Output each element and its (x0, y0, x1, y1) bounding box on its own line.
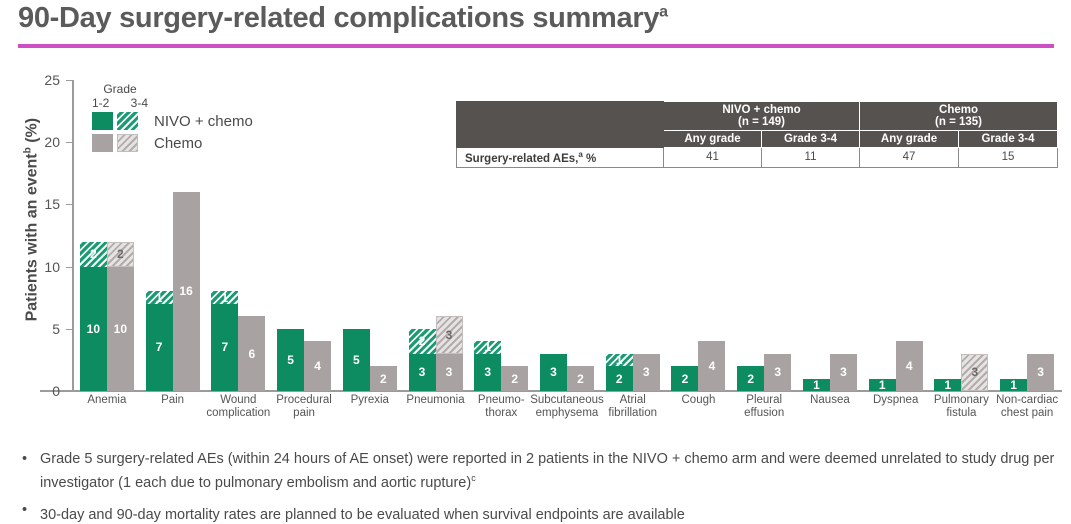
bar-segment-chemo-grade-1-2: 3 (633, 354, 660, 391)
bar-chemo[interactable]: 2 (567, 366, 594, 391)
x-axis-label-line: effusion (744, 407, 784, 419)
bar-chemo[interactable]: 16 (173, 192, 200, 391)
legend-grade-3-4-label: 3-4 (131, 96, 148, 110)
legend-grade-header: Grade (92, 82, 148, 96)
bar-segment-chemo-grade-1-2: 2 (370, 366, 397, 391)
footnote-item: • 30-day and 90-day mortality rates are … (14, 501, 1059, 524)
table-cell-nivo-grade-3-4: 11 (762, 148, 860, 168)
table-subheader-nivo-grade-3-4: Grade 3-4 (762, 131, 860, 148)
y-axis-tick-label: 20 (28, 134, 60, 150)
bar-segment-nivo-grade-1-2: 5 (277, 329, 304, 391)
bar-segment-chemo-grade-1-2: 6 (238, 316, 265, 391)
bar-segment-nivo-grade-3-4: 1 (606, 354, 633, 366)
bar-nivo-chemo[interactable]: 12 (606, 354, 633, 391)
bar-segment-nivo-grade-3-4: 1 (146, 291, 173, 303)
x-axis-label-line: emphysema (536, 407, 599, 419)
bar-segment-chemo-grade-1-2: 3 (830, 354, 857, 391)
x-axis-label-line: Pleural (746, 394, 782, 406)
bar-segment-nivo-grade-1-2: 7 (146, 304, 173, 391)
bar-nivo-chemo[interactable]: 1 (803, 379, 830, 391)
title-underline-rule (18, 44, 1054, 48)
bar-chemo[interactable]: 3 (633, 354, 660, 391)
bar-nivo-chemo[interactable]: 3 (540, 354, 567, 391)
x-axis-label-line: Procedural (276, 394, 332, 406)
y-axis-tick (66, 267, 74, 268)
bar-chemo[interactable]: 3 (961, 354, 988, 391)
table-subheader-nivo-any-grade: Any grade (664, 131, 762, 148)
footnote-superscript: c (471, 473, 476, 483)
table-header-nivo-chemo-n: (n = 149) (738, 116, 785, 128)
bar-nivo-chemo[interactable]: 5 (277, 329, 304, 391)
footnote-item: • Grade 5 surgery-related AEs (within 24… (14, 450, 1059, 493)
x-axis-labels: AnemiaPainWoundcomplicationProceduralpai… (74, 394, 1060, 446)
bullet-icon: • (22, 450, 27, 469)
bar-segment-chemo-grade-3-4: 2 (107, 242, 134, 267)
x-axis-label-line: chest pain (1001, 407, 1053, 419)
bar-segment-nivo-grade-1-2: 2 (606, 366, 633, 391)
table-subheader-chemo-any-grade: Any grade (860, 131, 959, 148)
bar-segment-nivo-grade-1-2: 2 (671, 366, 698, 391)
x-axis-label-line: Pneumonia (406, 394, 464, 406)
page-title: 90-Day surgery-related complications sum… (18, 2, 668, 35)
y-axis-tick-label: 25 (28, 72, 60, 88)
footnote-text: Grade 5 surgery-related AEs (within 24 h… (40, 451, 1054, 491)
x-axis-label-line: pain (293, 407, 315, 419)
x-axis-label-line: Pulmonary (934, 394, 989, 406)
bar-segment-nivo-grade-3-4: 1 (474, 341, 501, 353)
legend-label-chemo: Chemo (154, 135, 202, 152)
bar-segment-nivo-grade-3-4: 2 (409, 329, 436, 354)
slide: 90-Day surgery-related complications sum… (0, 0, 1071, 524)
bar-segment-chemo-grade-3-4: 3 (961, 354, 988, 391)
legend-grade-1-2-label: 1-2 (92, 96, 109, 110)
bar-nivo-chemo[interactable]: 1 (869, 379, 896, 391)
legend-grade-subheaders: 1-2 3-4 (92, 96, 148, 110)
bar-segment-nivo-grade-1-2: 3 (409, 354, 436, 391)
bar-nivo-chemo[interactable]: 2 (737, 366, 764, 391)
bar-chemo[interactable]: 4 (304, 341, 331, 391)
table-cell-chemo-any-grade: 47 (860, 148, 959, 168)
table-header-row-arms: NIVO + chemo (n = 149) Chemo (n = 135) (457, 102, 1058, 131)
bar-segment-nivo-grade-1-2: 10 (80, 267, 107, 391)
x-axis-label-line: Cough (682, 394, 716, 406)
bar-chemo[interactable]: 33 (436, 316, 463, 391)
y-axis-tick (66, 204, 74, 205)
bar-chemo[interactable]: 4 (698, 341, 725, 391)
table-row-label-text: Surgery-related AEs, (465, 153, 578, 165)
x-axis-label: Non-cardiacchest pain (988, 394, 1066, 420)
bar-segment-chemo-grade-1-2: 4 (698, 341, 725, 391)
x-axis-label-line: Atrial (620, 394, 646, 406)
x-axis-label-line: thorax (485, 407, 517, 419)
bar-segment-chemo-grade-1-2: 3 (436, 354, 463, 391)
bar-chemo[interactable]: 210 (107, 242, 134, 391)
y-axis-tick (66, 80, 74, 81)
legend-item-nivo-chemo: NIVO + chemo (92, 112, 253, 130)
page-title-superscript: a (659, 3, 668, 20)
bar-chemo[interactable]: 4 (896, 341, 923, 391)
x-axis-label-line: complication (206, 407, 270, 419)
bar-nivo-chemo[interactable]: 210 (80, 242, 107, 391)
bar-segment-chemo-grade-1-2: 10 (107, 267, 134, 391)
bar-segment-nivo-grade-1-2: 1 (934, 379, 961, 391)
bar-chemo[interactable]: 3 (830, 354, 857, 391)
bar-segment-nivo-grade-1-2: 7 (211, 304, 238, 391)
x-axis-label-line: Non-cardiac (996, 394, 1058, 406)
page-title-text: 90-Day surgery-related complications sum… (18, 2, 659, 34)
bar-segment-nivo-grade-1-2: 2 (737, 366, 764, 391)
x-axis-label-line: Pain (161, 394, 184, 406)
bar-chart: Patients with an eventb (%) 0510152025 2… (0, 62, 1071, 448)
bar-segment-chemo-grade-1-2: 3 (764, 354, 791, 391)
table-header-nivo-chemo-name: NIVO + chemo (722, 104, 800, 116)
bar-segment-chemo-grade-1-2: 16 (173, 192, 200, 391)
summary-table: NIVO + chemo (n = 149) Chemo (n = 135) A… (456, 101, 1057, 168)
x-axis-label-line: Pneumo- (478, 394, 525, 406)
footnote-list: • Grade 5 surgery-related AEs (within 24… (14, 450, 1059, 524)
legend-swatch-chemo-grade-3-4 (117, 134, 138, 152)
bar-nivo-chemo[interactable]: 13 (474, 341, 501, 391)
table-subheader-chemo-grade-3-4: Grade 3-4 (959, 131, 1058, 148)
x-axis-label-line: fistula (946, 407, 976, 419)
bar-segment-chemo-grade-1-2: 2 (501, 366, 528, 391)
y-axis-tick-label: 0 (28, 383, 60, 399)
y-axis-title-text: Patients with an event (24, 153, 41, 321)
y-axis-tick (66, 329, 74, 330)
bar-segment-nivo-grade-1-2: 1 (1000, 379, 1027, 391)
x-axis-label-line: Wound (220, 394, 256, 406)
legend-swatch-chemo-grade-1-2 (92, 134, 113, 152)
y-axis-tick-label: 5 (28, 321, 60, 337)
y-axis-tick (66, 142, 74, 143)
y-axis-tick-label: 15 (28, 196, 60, 212)
x-axis-label-line: Nausea (810, 394, 850, 406)
bar-segment-chemo-grade-3-4: 3 (436, 316, 463, 353)
table-header-chemo-n: (n = 135) (935, 116, 982, 128)
bar-segment-chemo-grade-1-2: 4 (304, 341, 331, 391)
bar-nivo-chemo[interactable]: 5 (343, 329, 370, 391)
bullet-icon: • (22, 501, 27, 520)
legend-label-nivo-chemo: NIVO + chemo (154, 113, 253, 130)
bar-nivo-chemo[interactable]: 1 (934, 379, 961, 391)
bar-nivo-chemo[interactable]: 17 (146, 291, 173, 391)
table-row-label: Surgery-related AEs,a % (457, 148, 664, 168)
footnote-text: 30-day and 90-day mortality rates are pl… (40, 507, 685, 523)
summary-table-grid: NIVO + chemo (n = 149) Chemo (n = 135) A… (456, 101, 1058, 168)
bar-segment-nivo-grade-1-2: 5 (343, 329, 370, 391)
bar-group: 52 (337, 80, 403, 391)
table-header-chemo: Chemo (n = 135) (860, 102, 1058, 131)
bar-chemo[interactable]: 2 (370, 366, 397, 391)
bar-segment-nivo-grade-1-2: 3 (540, 354, 567, 391)
bar-segment-nivo-grade-3-4: 2 (80, 242, 107, 267)
bar-nivo-chemo[interactable]: 23 (409, 329, 436, 391)
legend-swatch-nivo-grade-1-2 (92, 112, 113, 130)
x-axis-label-line: Dyspnea (873, 394, 918, 406)
bar-segment-chemo-grade-1-2: 2 (567, 366, 594, 391)
bar-segment-chemo-grade-1-2: 3 (1027, 354, 1054, 391)
bar-chemo[interactable]: 2 (501, 366, 528, 391)
x-axis-label-line: Anemia (87, 394, 126, 406)
x-axis-label-line: Subcutaneous (530, 394, 604, 406)
legend-item-chemo: Chemo (92, 134, 202, 152)
bar-chemo[interactable]: 6 (238, 316, 265, 391)
x-axis-label-line: fibrillation (608, 407, 657, 419)
bar-nivo-chemo[interactable]: 1 (1000, 379, 1027, 391)
bar-segment-chemo-grade-1-2: 4 (896, 341, 923, 391)
table-row: Surgery-related AEs,a % 41 11 47 15 (457, 148, 1058, 168)
y-axis-tick-label: 10 (28, 259, 60, 275)
table-row-label-suffix: % (583, 153, 596, 165)
bar-segment-nivo-grade-1-2: 1 (869, 379, 896, 391)
bar-chemo[interactable]: 3 (764, 354, 791, 391)
table-corner-cell (457, 102, 664, 148)
legend-swatch-nivo-grade-3-4 (117, 112, 138, 130)
x-axis-label-line: Pyrexia (351, 394, 389, 406)
bar-segment-nivo-grade-3-4: 1 (211, 291, 238, 303)
bar-segment-nivo-grade-1-2: 3 (474, 354, 501, 391)
table-header-chemo-name: Chemo (939, 104, 978, 116)
table-header-nivo-chemo: NIVO + chemo (n = 149) (664, 102, 860, 131)
bar-group: 54 (271, 80, 337, 391)
table-cell-chemo-grade-3-4: 15 (959, 148, 1058, 168)
bar-segment-nivo-grade-1-2: 1 (803, 379, 830, 391)
bar-chemo[interactable]: 3 (1027, 354, 1054, 391)
bar-nivo-chemo[interactable]: 2 (671, 366, 698, 391)
bar-nivo-chemo[interactable]: 17 (211, 291, 238, 391)
table-cell-nivo-any-grade: 41 (664, 148, 762, 168)
y-axis-tick (66, 391, 74, 392)
